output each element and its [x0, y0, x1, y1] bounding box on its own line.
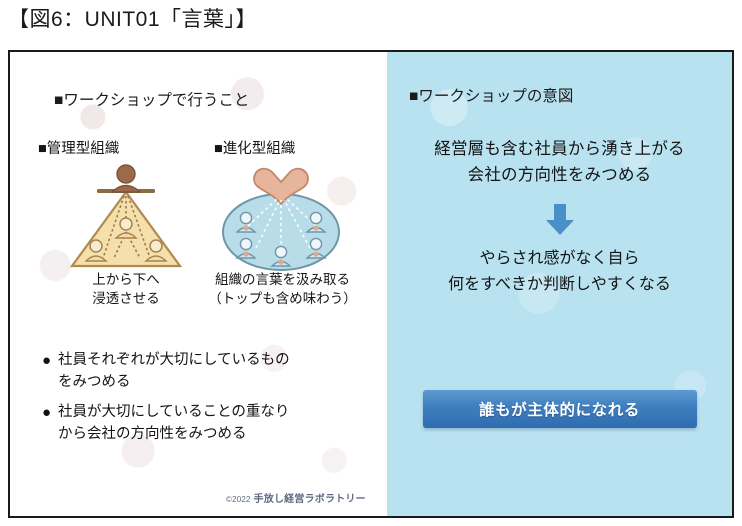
bullet-marker-icon: ●: [36, 402, 58, 423]
list-item: ● 社員が大切にしていることの重なり から会社の方向性をみつめる: [36, 402, 376, 445]
caption-kanri: 上から下へ 浸透させる: [56, 270, 196, 308]
caption-shinka-line1: 組織の言葉を汲み取る: [200, 270, 365, 289]
copyright-mark: ©2022: [226, 495, 251, 504]
callout-banner: 誰もが主体的になれる: [423, 390, 697, 428]
bullet-text: 社員それぞれが大切にしているもの をみつめる: [58, 350, 290, 393]
bullet-text-line1: 社員それぞれが大切にしているもの: [58, 350, 290, 372]
panels-container: ■ワークショップで行うこと ■管理型組織 ■進化型組織: [10, 52, 732, 516]
bullet-text-line1: 社員が大切にしていることの重なり: [58, 402, 289, 424]
caption-kanri-line1: 上から下へ: [56, 270, 196, 289]
right-panel-heading: ■ワークショップの意図: [409, 84, 573, 106]
right-panel-top-text-line1: 経営層も含む社員から湧き上がる: [387, 136, 732, 162]
caption-shinka-line2: （トップも含め味わう）: [200, 289, 365, 308]
bullet-marker-icon: ●: [36, 350, 58, 371]
right-panel-top-text: 経営層も含む社員から湧き上がる 会社の方向性をみつめる: [387, 136, 732, 188]
right-panel-bottom-text-line2: 何をすべきか判断しやすくなる: [387, 272, 732, 298]
bullet-text: 社員が大切にしていることの重なり から会社の方向性をみつめる: [58, 402, 289, 445]
pyramid-hierarchy-icon: [56, 162, 196, 274]
caption-kanri-line2: 浸透させる: [56, 289, 196, 308]
figure-caption: 【図6：UNIT01「言葉」】: [8, 6, 257, 34]
figure-screenshot: 【図6：UNIT01「言葉」】 ■ワークショップで行うこと ■管理型組織 ■進化…: [0, 0, 742, 526]
column-heading-shinka: ■進化型組織: [214, 137, 295, 158]
bullet-text-line2: をみつめる: [58, 372, 290, 394]
copyright-organization: 手放し経営ラボラトリー: [254, 494, 366, 505]
bullet-list: ● 社員それぞれが大切にしているもの をみつめる ● 社員が大切にしていることの…: [36, 350, 376, 454]
right-panel-bottom-text-line1: やらされ感がなく自ら: [387, 246, 732, 272]
down-arrow-icon: [545, 204, 575, 241]
bullet-text-line2: から会社の方向性をみつめる: [58, 424, 289, 446]
callout-label: 誰もが主体的になれる: [479, 398, 640, 420]
right-panel: ■ワークショップの意図 経営層も含む社員から湧き上がる 会社の方向性をみつめる …: [387, 52, 732, 516]
copyright-credit: ©2022 手放し経営ラボラトリー: [226, 490, 366, 505]
left-panel: ■ワークショップで行うこと ■管理型組織 ■進化型組織: [10, 52, 387, 516]
column-heading-kanri: ■管理型組織: [38, 137, 119, 158]
list-item: ● 社員それぞれが大切にしているもの をみつめる: [36, 350, 376, 393]
caption-shinka: 組織の言葉を汲み取る （トップも含め味わう）: [200, 270, 365, 308]
circle-team-heart-icon: [206, 160, 356, 276]
right-panel-top-text-line2: 会社の方向性をみつめる: [387, 162, 732, 188]
right-panel-bottom-text: やらされ感がなく自ら 何をすべきか判断しやすくなる: [387, 246, 732, 298]
left-panel-heading: ■ワークショップで行うこと: [54, 88, 249, 110]
figure-frame: ■ワークショップで行うこと ■管理型組織 ■進化型組織: [8, 50, 734, 518]
